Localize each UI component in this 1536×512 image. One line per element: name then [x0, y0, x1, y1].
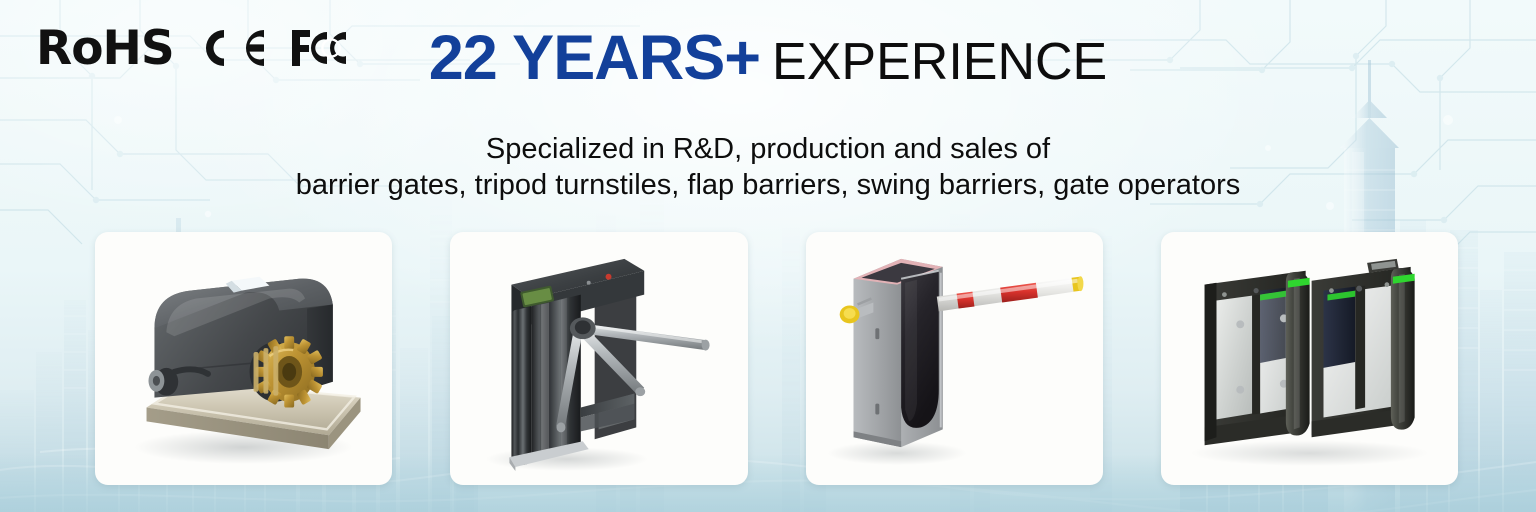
product-card-gate-operator[interactable]	[95, 232, 392, 485]
headline: 22 YEARS+EXPERIENCE	[0, 27, 1536, 90]
headline-experience: EXPERIENCE	[772, 33, 1107, 91]
tripod-turnstile-image	[450, 232, 747, 485]
product-card-swing-barriers[interactable]	[1161, 232, 1458, 485]
product-card-tripod-turnstile[interactable]	[450, 232, 747, 485]
subtitle-line-1: Specialized in R&D, production and sales…	[0, 131, 1536, 167]
subtitle-line-2: barrier gates, tripod turnstiles, flap b…	[0, 167, 1536, 203]
swing-barrier-image	[1161, 232, 1458, 485]
product-card-barrier-gate[interactable]	[806, 232, 1103, 485]
barrier-gate-image	[806, 232, 1103, 485]
gate-operator-image	[95, 232, 392, 485]
headline-years: 22 YEARS+	[429, 23, 760, 93]
product-gallery	[95, 232, 1458, 485]
subtitle: Specialized in R&D, production and sales…	[0, 131, 1536, 203]
promotional-banner: RoHS 22 YEARS+EXPERIENCE Specialized in …	[0, 0, 1536, 512]
